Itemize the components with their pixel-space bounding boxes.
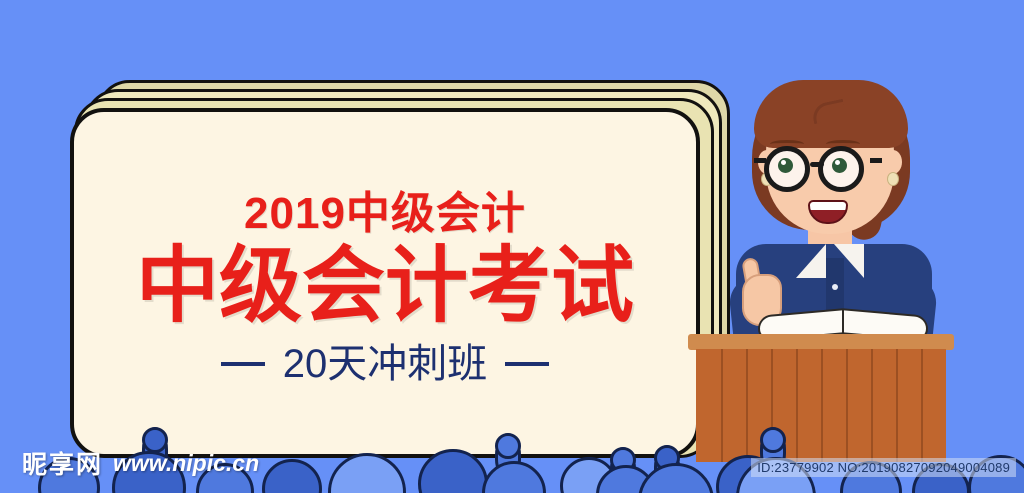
student-head (112, 451, 186, 493)
dash-right-icon (505, 362, 549, 366)
student-head (328, 453, 406, 493)
eye-highlight-right (835, 160, 840, 165)
student-head (38, 457, 100, 493)
student-head (760, 427, 786, 453)
glasses-icon (760, 146, 900, 192)
glasses-temple-left (754, 158, 766, 163)
student-head (418, 449, 488, 493)
image-id-tag: ID:23779902 NO:20190827092049004089 (751, 458, 1016, 477)
board-face: 2019中级会计 中级会计考试 20天冲刺班 (70, 108, 700, 458)
promo-banner: 2019中级会计 中级会计考试 20天冲刺班 (0, 0, 1024, 493)
dash-left-icon (221, 362, 265, 366)
student-head (638, 463, 714, 493)
whiteboard: 2019中级会计 中级会计考试 20天冲刺班 (70, 80, 730, 458)
student-head (262, 459, 322, 493)
glasses-bridge (810, 162, 824, 167)
subtitle-row: 20天冲刺班 (221, 344, 550, 384)
subtitle-text: 20天冲刺班 (283, 344, 488, 384)
student-head (482, 461, 546, 493)
headline-main-title: 中级会计考试 (136, 244, 634, 329)
teeth (810, 202, 846, 210)
eye-highlight-left (781, 160, 786, 165)
podium-top-edge (688, 334, 954, 350)
student-head (196, 463, 254, 493)
board-text-block: 2019中级会计 中级会计考试 20天冲刺班 (74, 112, 696, 454)
student-head (142, 427, 168, 453)
collar-left (796, 244, 826, 278)
student-head (495, 433, 521, 459)
headline-year-subject: 2019中级会计 (244, 192, 526, 236)
glasses-temple-right (870, 158, 882, 163)
student-audience (0, 413, 1024, 493)
shirt-button (832, 284, 838, 290)
